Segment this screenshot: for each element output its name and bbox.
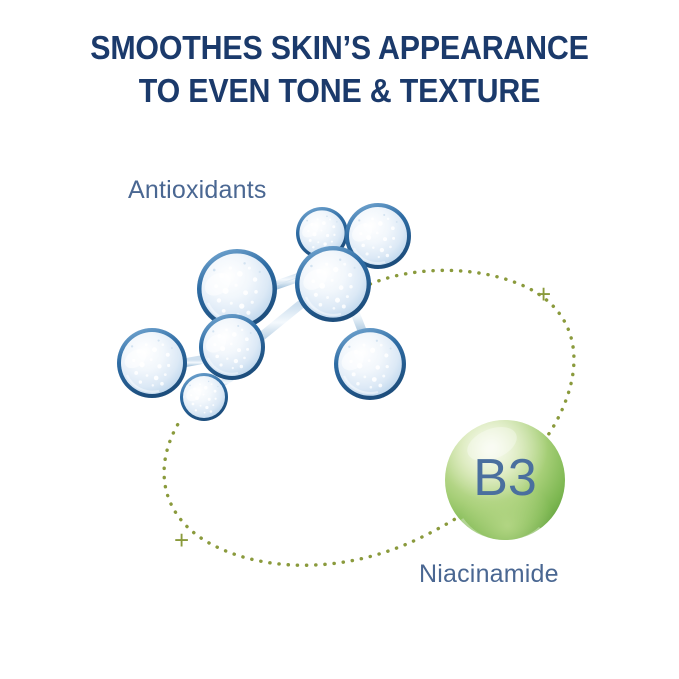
ingredient-illustration: B3: [0, 0, 679, 679]
ingredient-label-antioxidants: Antioxidants: [128, 176, 267, 205]
plus-icon-left: +: [174, 527, 189, 553]
blue-bubble-cluster-icon: [117, 203, 411, 421]
bubble: [295, 246, 371, 322]
plus-icon-right: +: [536, 281, 551, 307]
green-sphere-icon: B3: [445, 420, 565, 542]
bubble: [334, 328, 406, 400]
bubble: [180, 373, 228, 421]
bubble: [117, 328, 187, 398]
bubble: [199, 314, 265, 380]
product-benefit-infographic: SMOOTHES SKIN’S APPEARANCE TO EVEN TONE …: [0, 0, 679, 679]
sphere-label-b3: B3: [473, 449, 537, 507]
ingredient-label-niacinamide: Niacinamide: [419, 560, 559, 589]
